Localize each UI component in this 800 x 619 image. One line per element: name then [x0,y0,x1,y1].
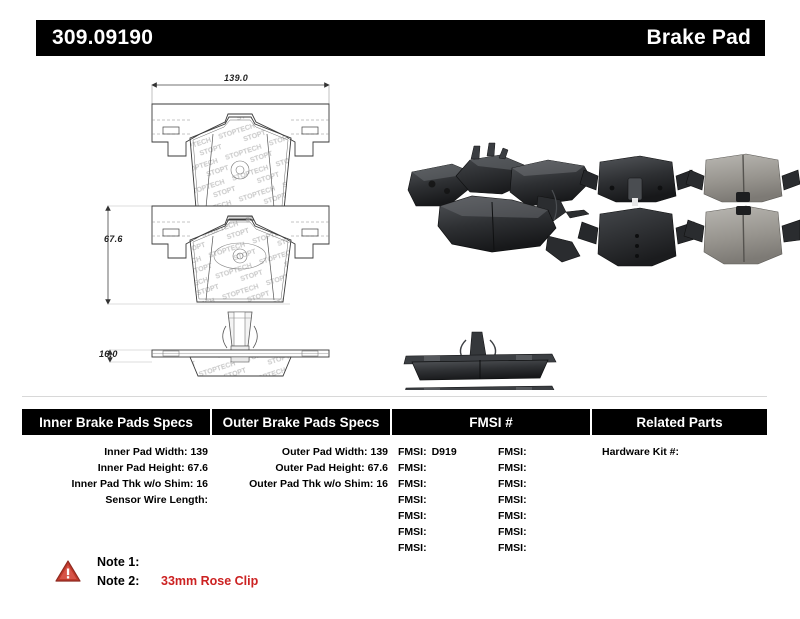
note-2-label: Note 2: [97,572,153,591]
fmsi-label: FMSI: [498,446,527,458]
fmsi-value [527,478,532,490]
note-lines: Note 1: Note 2: 33mm Rose Clip [97,553,258,591]
fmsi-value [427,542,432,554]
column-header-inner-specs: Inner Brake Pads Specs [22,409,212,435]
fmsi-value [527,446,532,458]
outer-pad-width: Outer Pad Width: 139 [212,444,392,460]
outer-pad-thickness: Outer Pad Thk w/o Shim: 16 [212,476,392,492]
fmsi-row: FMSI: [492,444,592,460]
fmsi-label: FMSI: [398,478,427,490]
inner-pad-height: Inner Pad Height: 67.6 [22,460,212,476]
inner-pad-width: Inner Pad Width: 139 [22,444,212,460]
fmsi-label: FMSI: [498,510,527,522]
inner-pad-thickness: Inner Pad Thk w/o Shim: 16 [22,476,212,492]
column-header-related-parts: Related Parts [592,409,767,435]
fmsi-row: FMSI: [492,476,592,492]
fmsi-value [527,510,532,522]
table-header-row: Inner Brake Pads Specs Outer Brake Pads … [22,409,767,435]
related-parts-cell: Hardware Kit #: [592,444,767,556]
fmsi-value [427,462,432,474]
header-bar: 309.09190 Brake Pad [36,20,765,56]
inner-specs-cell: Inner Pad Width: 139 Inner Pad Height: 6… [22,444,212,556]
fmsi-value [527,542,532,554]
fmsi-value [527,462,532,474]
fmsi-column-right: FMSI: FMSI: FMSI: FMSI: FMSI: FMSI: FMSI… [492,444,592,556]
page-title: Brake Pad [646,26,751,50]
drawing-and-photo-area: STOPTECH STOPTECH [0,60,800,390]
fmsi-value: D919 [427,446,457,458]
dimension-thickness-label: 16.0 [99,349,118,359]
fmsi-column-left: FMSI:D919 FMSI: FMSI: FMSI: FMSI: FMSI: … [392,444,492,556]
sensor-clip-drawing [223,312,258,352]
fmsi-label: FMSI: [398,446,427,458]
notes-section: Note 1: Note 2: 33mm Rose Clip [55,553,258,591]
fmsi-row: FMSI: [492,524,592,540]
pad-drawing-top [152,85,329,220]
fmsi-value [527,526,532,538]
part-number: 309.09190 [52,26,153,50]
fmsi-cell: FMSI:D919 FMSI: FMSI: FMSI: FMSI: FMSI: … [392,444,592,556]
fmsi-row: FMSI: [492,508,592,524]
outer-pad-height: Outer Pad Height: 67.6 [212,460,392,476]
note-2-value: 33mm Rose Clip [153,572,258,591]
fmsi-label: FMSI: [398,494,427,506]
fmsi-label: FMSI: [398,542,427,554]
fmsi-label: FMSI: [498,542,527,554]
dimension-height-label: 67.6 [104,234,123,244]
hardware-kit-number: Hardware Kit #: [602,444,767,460]
fmsi-row: FMSI: [392,540,492,556]
note-2-row: Note 2: 33mm Rose Clip [97,572,258,591]
fmsi-value [427,526,432,538]
warning-triangle-icon [55,559,81,583]
fmsi-row: FMSI: [492,540,592,556]
fmsi-value [427,478,432,490]
technical-drawings: STOPTECH STOPTECH [0,60,800,390]
fmsi-value [427,494,432,506]
fmsi-label: FMSI: [498,478,527,490]
pad-drawing-middle [108,206,329,304]
fmsi-label: FMSI: [398,510,427,522]
fmsi-label: FMSI: [398,462,427,474]
fmsi-value [427,510,432,522]
outer-specs-cell: Outer Pad Width: 139 Outer Pad Height: 6… [212,444,392,556]
fmsi-label: FMSI: [498,526,527,538]
pad-drawing-edge [110,350,329,376]
column-header-fmsi: FMSI # [392,409,592,435]
fmsi-row: FMSI: [492,492,592,508]
dimension-width-label: 139.0 [224,73,248,83]
fmsi-row: FMSI: [392,476,492,492]
table-body: Inner Pad Width: 139 Inner Pad Height: 6… [22,435,767,556]
spec-sheet: 309.09190 Brake Pad STOPTECH STOPTECH [0,0,800,619]
note-1-row: Note 1: [97,553,258,572]
fmsi-value [527,494,532,506]
fmsi-row: FMSI: [392,460,492,476]
fmsi-row: FMSI: [392,492,492,508]
fmsi-label: FMSI: [398,526,427,538]
table-top-rule [22,396,767,397]
fmsi-label: FMSI: [498,462,527,474]
fmsi-row: FMSI:D919 [392,444,492,460]
fmsi-row: FMSI: [492,460,592,476]
fmsi-row: FMSI: [392,524,492,540]
fmsi-row: FMSI: [392,508,492,524]
column-header-outer-specs: Outer Brake Pads Specs [212,409,392,435]
fmsi-label: FMSI: [498,494,527,506]
specifications-table: Inner Brake Pads Specs Outer Brake Pads … [22,409,767,556]
note-1-label: Note 1: [97,553,153,572]
sensor-wire-length: Sensor Wire Length: [22,492,212,508]
